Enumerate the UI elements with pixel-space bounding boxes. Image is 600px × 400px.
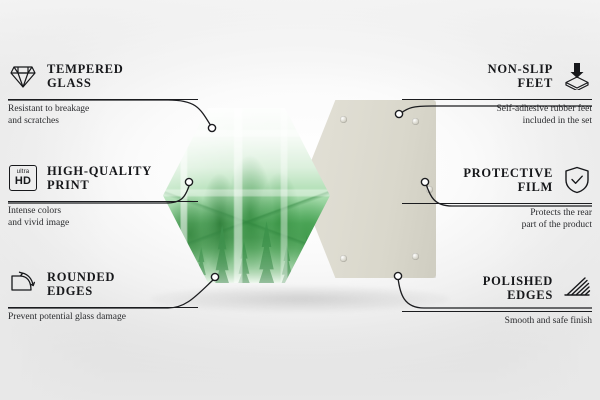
rounded-corner-arrow-icon	[8, 269, 38, 299]
feature-title: POLISHED EDGES	[483, 274, 553, 302]
rubber-foot	[340, 116, 347, 123]
rubber-foot	[412, 253, 419, 260]
tree	[236, 241, 251, 283]
tree	[213, 225, 231, 283]
feature-description: Intense colors and vivid image	[8, 206, 198, 229]
desc-line-2: part of the product	[522, 220, 592, 230]
hd-label: HD	[15, 176, 31, 187]
feature-divider	[8, 201, 198, 202]
feature-title: TEMPERED GLASS	[47, 62, 123, 90]
ultra-hd-icon: ultra HD	[8, 163, 38, 193]
desc-line-1: Resistant to breakage	[8, 104, 89, 114]
feature-description: Self-adhesive rubber feet included in th…	[402, 104, 592, 127]
feature-title: PROTECTIVE FILM	[463, 166, 553, 194]
desc-line-2: included in the set	[523, 116, 592, 126]
title-line-1: PROTECTIVE	[463, 166, 553, 180]
diamond-gem-icon	[8, 61, 38, 91]
feature-header: TEMPERED GLASS	[8, 56, 198, 96]
feature-header: PROTECTIVE FILM	[402, 160, 592, 200]
ultra-hd-box: ultra HD	[9, 165, 37, 191]
feature-header: POLISHED EDGES	[402, 268, 592, 308]
rubber-foot	[340, 255, 347, 262]
feature-divider	[402, 99, 592, 100]
title-line-2: PRINT	[47, 178, 89, 192]
hatched-edge-icon	[562, 273, 592, 303]
infographic-canvas: TEMPERED GLASS Resistant to breakage and…	[0, 0, 600, 400]
title-line-1: NON-SLIP	[488, 62, 553, 76]
desc-line-1: Smooth and safe finish	[505, 316, 592, 326]
title-line-1: ROUNDED	[47, 270, 115, 284]
feature-description: Resistant to breakage and scratches	[8, 104, 198, 127]
desc-line-1: Prevent potential glass damage	[8, 312, 126, 322]
title-line-1: HIGH-QUALITY	[47, 164, 152, 178]
feature-title: HIGH-QUALITY PRINT	[47, 164, 152, 192]
feature-header: ultra HD HIGH-QUALITY PRINT	[8, 158, 198, 198]
feature-description: Prevent potential glass damage	[8, 312, 198, 324]
title-line-1: POLISHED	[483, 274, 553, 288]
feature-tempered-glass: TEMPERED GLASS Resistant to breakage and…	[8, 56, 198, 127]
title-line-2: EDGES	[47, 284, 93, 298]
desc-line-1: Self-adhesive rubber feet	[497, 104, 592, 114]
feature-protective-film: PROTECTIVE FILM Protects the rear part o…	[402, 160, 592, 231]
title-line-2: FILM	[518, 180, 553, 194]
feature-divider	[402, 311, 592, 312]
feature-rounded-edges: ROUNDED EDGES Prevent potential glass da…	[8, 264, 198, 324]
title-line-2: FEET	[518, 76, 553, 90]
press-down-pad-icon	[562, 61, 592, 91]
desc-line-2: and vivid image	[8, 218, 69, 228]
feature-divider	[8, 99, 198, 100]
feature-description: Smooth and safe finish	[402, 316, 592, 328]
tree	[257, 221, 277, 283]
tree	[280, 245, 294, 283]
feature-non-slip-feet: NON-SLIP FEET Self-adhesive rubber feet …	[402, 56, 592, 127]
feature-high-quality-print: ultra HD HIGH-QUALITY PRINT Intense colo…	[8, 158, 198, 229]
tree	[298, 235, 315, 283]
desc-line-1: Intense colors	[8, 206, 61, 216]
feature-divider	[402, 203, 592, 204]
feature-polished-edges: POLISHED EDGES Smooth and safe finish	[402, 268, 592, 328]
feature-header: ROUNDED EDGES	[8, 264, 198, 304]
desc-line-2: and scratches	[8, 116, 59, 126]
feature-description: Protects the rear part of the product	[402, 208, 592, 231]
desc-line-1: Protects the rear	[530, 208, 592, 218]
shield-check-icon	[562, 165, 592, 195]
title-line-2: EDGES	[507, 288, 553, 302]
feature-title: ROUNDED EDGES	[47, 270, 115, 298]
feature-title: NON-SLIP FEET	[488, 62, 553, 90]
title-line-1: TEMPERED	[47, 62, 123, 76]
feature-header: NON-SLIP FEET	[402, 56, 592, 96]
title-line-2: GLASS	[47, 76, 92, 90]
feature-divider	[8, 307, 198, 308]
